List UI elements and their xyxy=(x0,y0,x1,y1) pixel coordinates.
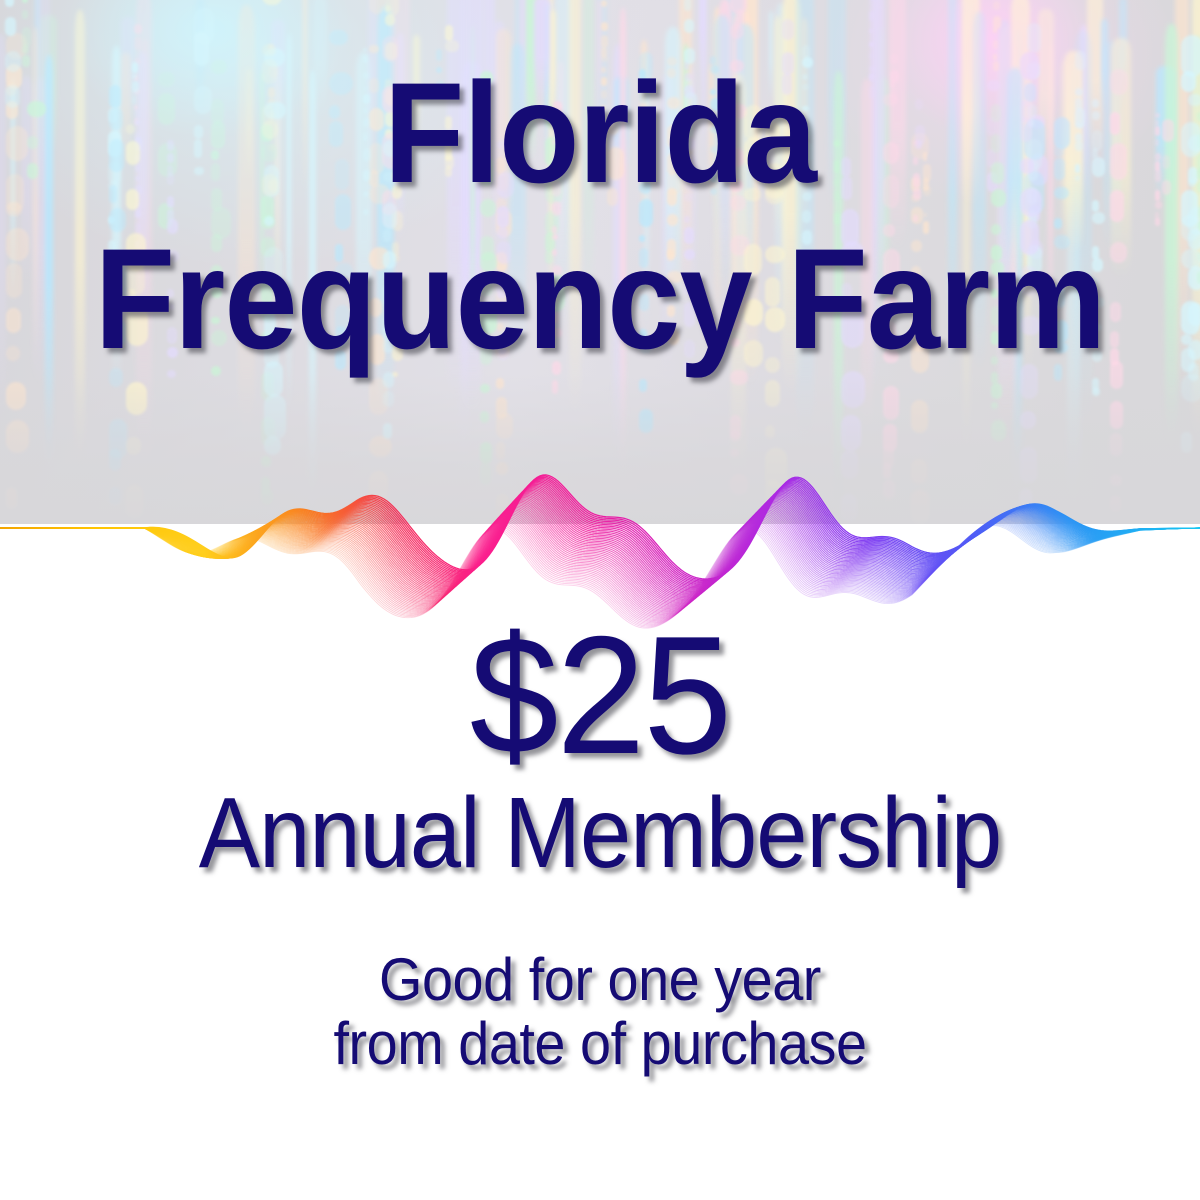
page-title-line-2: Frequency Farm xyxy=(48,228,1152,371)
background-bead xyxy=(126,382,147,415)
background-bead xyxy=(6,488,17,510)
background-bead xyxy=(1181,301,1200,336)
background-bead xyxy=(126,437,141,455)
background-bead xyxy=(639,409,653,433)
background-bead xyxy=(993,40,998,50)
membership-poster: Florida Frequency Farm $25 Annual Member… xyxy=(0,0,1200,1200)
background-bead xyxy=(1110,433,1123,455)
background-bead xyxy=(22,27,31,46)
background-bead xyxy=(385,14,395,26)
background-bead xyxy=(782,19,794,40)
background-bead xyxy=(134,24,142,34)
background-bead xyxy=(264,394,286,440)
background-bead xyxy=(993,54,997,60)
background-bead xyxy=(765,380,779,407)
background-streak xyxy=(1165,24,1178,450)
background-bead xyxy=(262,0,282,5)
background-bead xyxy=(1155,169,1161,182)
background-bead xyxy=(496,442,505,461)
background-bead xyxy=(369,45,379,54)
background-bead xyxy=(1110,475,1122,486)
background-bead xyxy=(262,44,276,57)
background-bead xyxy=(1181,432,1193,453)
background-bead xyxy=(27,163,38,178)
background-bead xyxy=(869,53,873,59)
background-bead xyxy=(684,19,694,34)
background-bead xyxy=(6,346,20,361)
background-bead xyxy=(363,48,367,51)
background-bead xyxy=(6,382,25,410)
background-bead xyxy=(1155,113,1160,118)
background-bead xyxy=(496,494,509,520)
background-bead xyxy=(264,436,281,455)
background-bead xyxy=(552,380,558,394)
background-bead xyxy=(1181,249,1200,269)
background-bead xyxy=(639,379,648,391)
background-bead xyxy=(109,487,121,505)
background-bead xyxy=(27,136,38,148)
background-bead xyxy=(383,423,392,439)
background-bead xyxy=(6,263,22,298)
background-bead xyxy=(730,24,744,39)
background-bead xyxy=(480,411,489,423)
background-bead xyxy=(841,415,861,451)
background-bead xyxy=(5,85,20,109)
background-bead xyxy=(1188,94,1200,106)
background-bead xyxy=(869,11,874,21)
background-bead xyxy=(730,449,739,457)
background-bead xyxy=(1155,139,1159,145)
background-bead xyxy=(923,213,927,217)
background-bead xyxy=(1162,180,1171,194)
wave-trace xyxy=(0,513,1200,614)
background-bead xyxy=(1162,155,1169,169)
price-amount: $25 xyxy=(30,611,1170,779)
background-bead xyxy=(765,425,775,438)
background-bead xyxy=(480,442,492,464)
background-bead xyxy=(883,386,899,420)
background-bead xyxy=(480,384,490,393)
background-bead xyxy=(1181,334,1192,345)
background-bead xyxy=(6,420,28,453)
background-bead xyxy=(134,37,141,51)
background-bead xyxy=(1188,179,1196,186)
background-bead xyxy=(1181,348,1195,372)
background-bead xyxy=(22,55,30,67)
background-bead xyxy=(1155,201,1162,209)
background-bead xyxy=(1110,496,1122,512)
background-bead xyxy=(869,42,874,47)
background-bead xyxy=(135,211,140,218)
background-bead xyxy=(383,391,394,407)
wave-trace xyxy=(0,510,1200,611)
background-bead xyxy=(841,494,856,521)
background-bead xyxy=(1155,218,1160,227)
background-bead xyxy=(496,462,508,475)
background-bead xyxy=(126,485,143,518)
background-bead xyxy=(261,456,271,467)
background-bead xyxy=(1181,215,1199,241)
background-bead xyxy=(991,383,1002,399)
background-bead xyxy=(6,228,29,261)
background-bead xyxy=(1020,411,1036,429)
background-bead xyxy=(911,459,927,484)
background-bead xyxy=(1155,126,1161,136)
background-bead xyxy=(5,51,21,72)
background-bead xyxy=(1155,190,1160,200)
background-bead xyxy=(883,480,895,499)
background-bead xyxy=(1162,119,1174,141)
background-bead xyxy=(991,420,1006,441)
background-bead xyxy=(22,0,27,3)
background-bead xyxy=(1092,388,1100,397)
background-streak xyxy=(33,27,38,368)
background-bead xyxy=(6,308,21,334)
background-bead xyxy=(1027,23,1041,53)
background-bead xyxy=(1020,489,1032,507)
background-bead xyxy=(993,27,997,33)
background-bead xyxy=(883,463,892,479)
background-bead xyxy=(6,126,28,161)
wave-trace xyxy=(0,512,1200,613)
background-bead xyxy=(445,40,459,52)
background-bead xyxy=(1181,71,1196,92)
background-bead xyxy=(22,10,28,19)
page-title-line-1: Florida xyxy=(48,62,1152,205)
background-bead xyxy=(369,471,388,503)
background-bead xyxy=(329,30,348,45)
background-bead xyxy=(480,463,491,486)
background-bead xyxy=(496,413,512,438)
background-bead xyxy=(1020,447,1037,482)
background-bead xyxy=(22,45,29,54)
background-bead xyxy=(109,449,122,471)
offer-label: Annual Membership xyxy=(48,783,1152,883)
fineprint-line-1: Good for one year xyxy=(42,950,1158,1010)
background-bead xyxy=(27,101,46,116)
background-bead xyxy=(496,378,503,389)
background-bead xyxy=(841,450,858,480)
fineprint-line-2: from date of purchase xyxy=(42,1014,1158,1074)
background-bead xyxy=(261,489,273,504)
background-bead xyxy=(6,202,22,216)
background-bead xyxy=(730,474,748,496)
background-bead xyxy=(369,436,392,457)
background-bead xyxy=(5,0,14,7)
background-bead xyxy=(911,400,928,434)
background-bead xyxy=(1155,153,1161,161)
background-bead xyxy=(991,402,998,410)
wave-trace xyxy=(0,515,1200,615)
background-bead xyxy=(993,1,999,10)
background-bead xyxy=(911,490,929,524)
background-bead xyxy=(194,32,210,66)
background-bead xyxy=(5,17,16,36)
background-bead xyxy=(730,430,740,442)
background-bead xyxy=(445,25,454,41)
wave-trace xyxy=(0,511,1200,612)
background-bead xyxy=(601,22,608,32)
background-bead xyxy=(1110,401,1123,429)
background-bead xyxy=(765,480,781,511)
background-bead xyxy=(1181,122,1200,157)
background-bead xyxy=(1181,374,1200,403)
